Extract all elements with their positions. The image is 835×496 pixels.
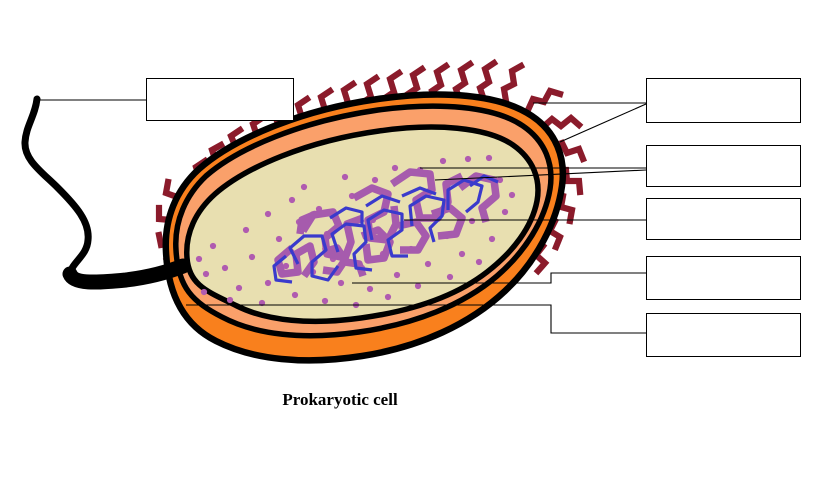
flagellum-base bbox=[70, 266, 183, 282]
label-box-right-5-text bbox=[647, 314, 800, 356]
label-box-right-2-text bbox=[647, 146, 800, 186]
prokaryotic-cell-illustration bbox=[0, 0, 835, 496]
flagellum-icon bbox=[25, 99, 88, 274]
label-box-right-3-text bbox=[647, 199, 800, 239]
diagram-canvas: Prokaryotic cell bbox=[0, 0, 835, 496]
label-box-right-5[interactable] bbox=[646, 313, 801, 357]
label-box-right-4-text bbox=[647, 257, 800, 299]
figure-caption: Prokaryotic cell bbox=[0, 390, 680, 410]
label-box-right-4[interactable] bbox=[646, 256, 801, 300]
label-box-flagellum-text bbox=[147, 79, 293, 120]
label-box-right-2[interactable] bbox=[646, 145, 801, 187]
label-box-right-1[interactable] bbox=[646, 78, 801, 123]
label-box-flagellum[interactable] bbox=[146, 78, 294, 121]
label-box-right-3[interactable] bbox=[646, 198, 801, 240]
label-box-right-1-text bbox=[647, 79, 800, 122]
